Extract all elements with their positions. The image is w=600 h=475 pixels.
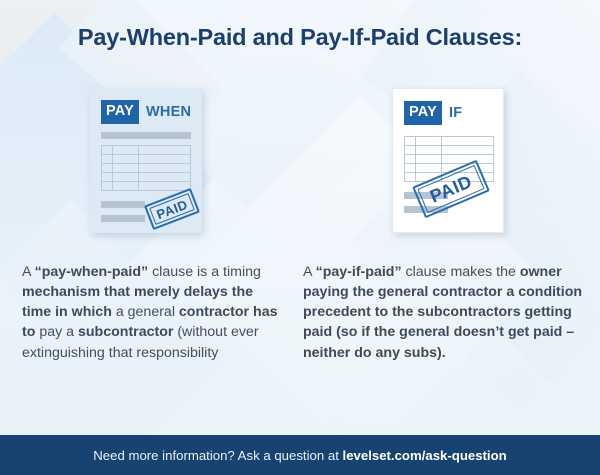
table-cell	[416, 146, 442, 154]
pay-when-paid-description-text: A “pay-when-paid” clause is a timing mec…	[22, 264, 277, 361]
footer-text: Need more information? Ask a question at…	[93, 448, 506, 463]
table-cell	[102, 164, 113, 172]
paid-stamp-left: PAID	[144, 188, 200, 230]
table-cell	[416, 155, 442, 163]
table-cell	[139, 173, 190, 181]
table-cell	[442, 146, 493, 154]
footer-bar: Need more information? Ask a question at…	[0, 435, 600, 475]
table-row	[102, 164, 190, 173]
footer-lead: Need more information? Ask a question at	[93, 448, 342, 463]
document-footer-bar-left-1	[101, 201, 145, 208]
pay-if-paid-description-text: A “pay-if-paid” clause makes the owner p…	[303, 264, 582, 361]
table-row	[102, 173, 190, 182]
document-header-bar-left	[101, 132, 191, 139]
pay-if-paid-description: A “pay-if-paid” clause makes the owner p…	[303, 262, 585, 363]
table-cell	[405, 137, 416, 145]
table-row	[102, 146, 190, 155]
table-cell	[102, 146, 113, 154]
document-head-word-right: IF	[449, 106, 462, 121]
table-cell	[416, 137, 442, 145]
document-header-right: PAY IF	[404, 101, 462, 125]
table-row	[102, 155, 190, 164]
document-table-left	[101, 145, 191, 191]
table-cell	[405, 155, 416, 163]
infographic-poster: Pay-When-Paid and Pay-If-Paid Clauses: P…	[0, 0, 600, 475]
document-head-word-left: WHEN	[146, 105, 191, 120]
table-cell	[113, 164, 139, 172]
table-row	[405, 146, 493, 155]
pay-when-paid-document: PAY WHEN	[90, 88, 202, 233]
table-row	[405, 137, 493, 146]
table-cell	[405, 173, 416, 181]
table-cell	[102, 173, 113, 181]
table-cell	[139, 155, 190, 163]
table-cell	[139, 182, 190, 190]
table-cell	[416, 164, 442, 172]
table-cell	[102, 155, 113, 163]
table-cell	[102, 182, 113, 190]
document-illustrations: PAY WHEN	[0, 88, 600, 238]
document-footer-bar-left-2	[101, 215, 145, 222]
description-columns: A “pay-when-paid” clause is a timing mec…	[0, 262, 600, 412]
table-cell	[405, 164, 416, 172]
paid-stamp-left-label: PAID	[149, 193, 195, 225]
table-cell	[442, 137, 493, 145]
table-cell	[139, 146, 190, 154]
table-cell	[113, 182, 139, 190]
footer-link[interactable]: levelset.com/ask-question	[343, 448, 507, 463]
table-cell	[139, 164, 190, 172]
document-header-left: PAY WHEN	[101, 100, 191, 124]
table-cell	[442, 155, 493, 163]
table-cell	[113, 155, 139, 163]
pay-when-paid-description: A “pay-when-paid” clause is a timing mec…	[22, 262, 284, 363]
pay-if-paid-document: PAY IF	[392, 88, 504, 233]
table-cell	[113, 146, 139, 154]
pay-badge-left: PAY	[101, 100, 139, 124]
table-row	[405, 155, 493, 164]
table-cell	[405, 146, 416, 154]
pay-badge-right: PAY	[404, 101, 442, 125]
table-row	[102, 182, 190, 190]
page-title: Pay-When-Paid and Pay-If-Paid Clauses:	[0, 24, 600, 51]
table-cell	[113, 173, 139, 181]
